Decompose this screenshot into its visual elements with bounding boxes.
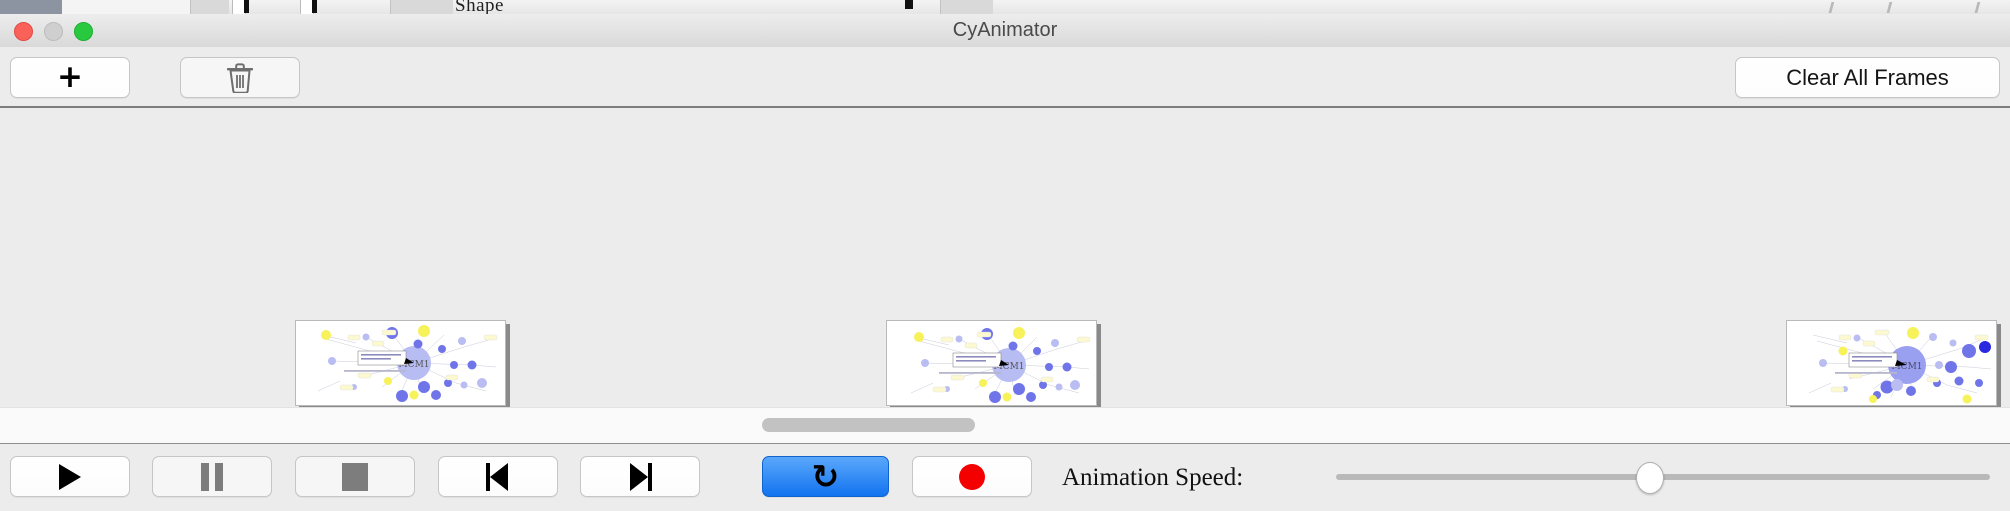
first-frame-button[interactable] [438, 456, 558, 497]
network-graph-preview: MCM1 [887, 321, 1096, 405]
cyanimator-window: Shape CyAnimator + Clear All Fram [0, 0, 2010, 510]
skip-forward-icon [628, 463, 652, 491]
network-graph-preview: MCM1 [296, 321, 505, 405]
frame-thumbnail-card: MCM1 [1786, 320, 1997, 406]
title-bar: CyAnimator [0, 14, 2010, 48]
background-window-tab [190, 0, 229, 14]
scrollbar-track[interactable] [0, 418, 2010, 434]
delete-frame-button[interactable] [180, 57, 300, 98]
frame-thumbnail[interactable]: MCM1 [1786, 320, 2001, 407]
highlighted-node [1979, 341, 1991, 353]
record-icon [959, 464, 985, 490]
frame-thumbnail[interactable]: MCM1 [886, 320, 1101, 407]
background-window-slash [1822, 2, 1840, 13]
loop-button[interactable]: ↻ [762, 456, 889, 497]
play-button[interactable] [10, 456, 130, 497]
background-window-title: Shape [455, 0, 504, 14]
skip-back-icon [486, 463, 510, 491]
frame-thumbnail[interactable]: MCM1 [295, 320, 510, 407]
background-window-dark-tab [0, 0, 62, 14]
background-window-slash [1880, 2, 1898, 13]
frame-timeline-panel[interactable]: MCM1 [0, 108, 2010, 407]
background-window-strip: Shape [0, 0, 2010, 14]
stop-icon [342, 463, 368, 491]
play-icon [59, 464, 81, 490]
slider-thumb[interactable] [1636, 462, 1664, 494]
clear-all-frames-label: Clear All Frames [1786, 65, 1949, 91]
timeline-scrollbar[interactable] [0, 407, 2010, 444]
frames-toolbar: + Clear All Frames [0, 47, 2010, 107]
loop-icon: ↻ [812, 460, 840, 493]
transport-bar: ↻ Animation Speed: [0, 443, 2010, 511]
scrollbar-thumb[interactable] [762, 418, 975, 432]
animation-speed-label: Animation Speed: [1062, 457, 1243, 498]
background-window-mark [244, 0, 249, 13]
network-graph-preview: MCM1 [1787, 321, 1996, 405]
background-window-tab [62, 0, 135, 14]
record-button[interactable] [912, 456, 1032, 497]
background-window-tab [940, 0, 993, 14]
background-window-slash [1968, 2, 1986, 13]
stop-button[interactable] [295, 456, 415, 497]
pause-icon [201, 463, 223, 491]
add-frame-button[interactable]: + [10, 57, 130, 98]
frame-thumbnail-card: MCM1 [886, 320, 1097, 406]
background-window-tab [134, 0, 191, 14]
last-frame-button[interactable] [580, 456, 700, 497]
window-title: CyAnimator [0, 14, 2010, 47]
pause-button[interactable] [152, 456, 272, 497]
background-window-mark [905, 0, 913, 9]
animation-speed-slider[interactable] [1336, 456, 1990, 497]
frame-thumbnail-card: MCM1 [295, 320, 506, 406]
background-window-mark [312, 0, 317, 13]
background-window-tab [390, 0, 453, 14]
trash-icon [227, 63, 253, 93]
plus-icon: + [57, 62, 83, 93]
clear-all-frames-button[interactable]: Clear All Frames [1735, 57, 2000, 98]
